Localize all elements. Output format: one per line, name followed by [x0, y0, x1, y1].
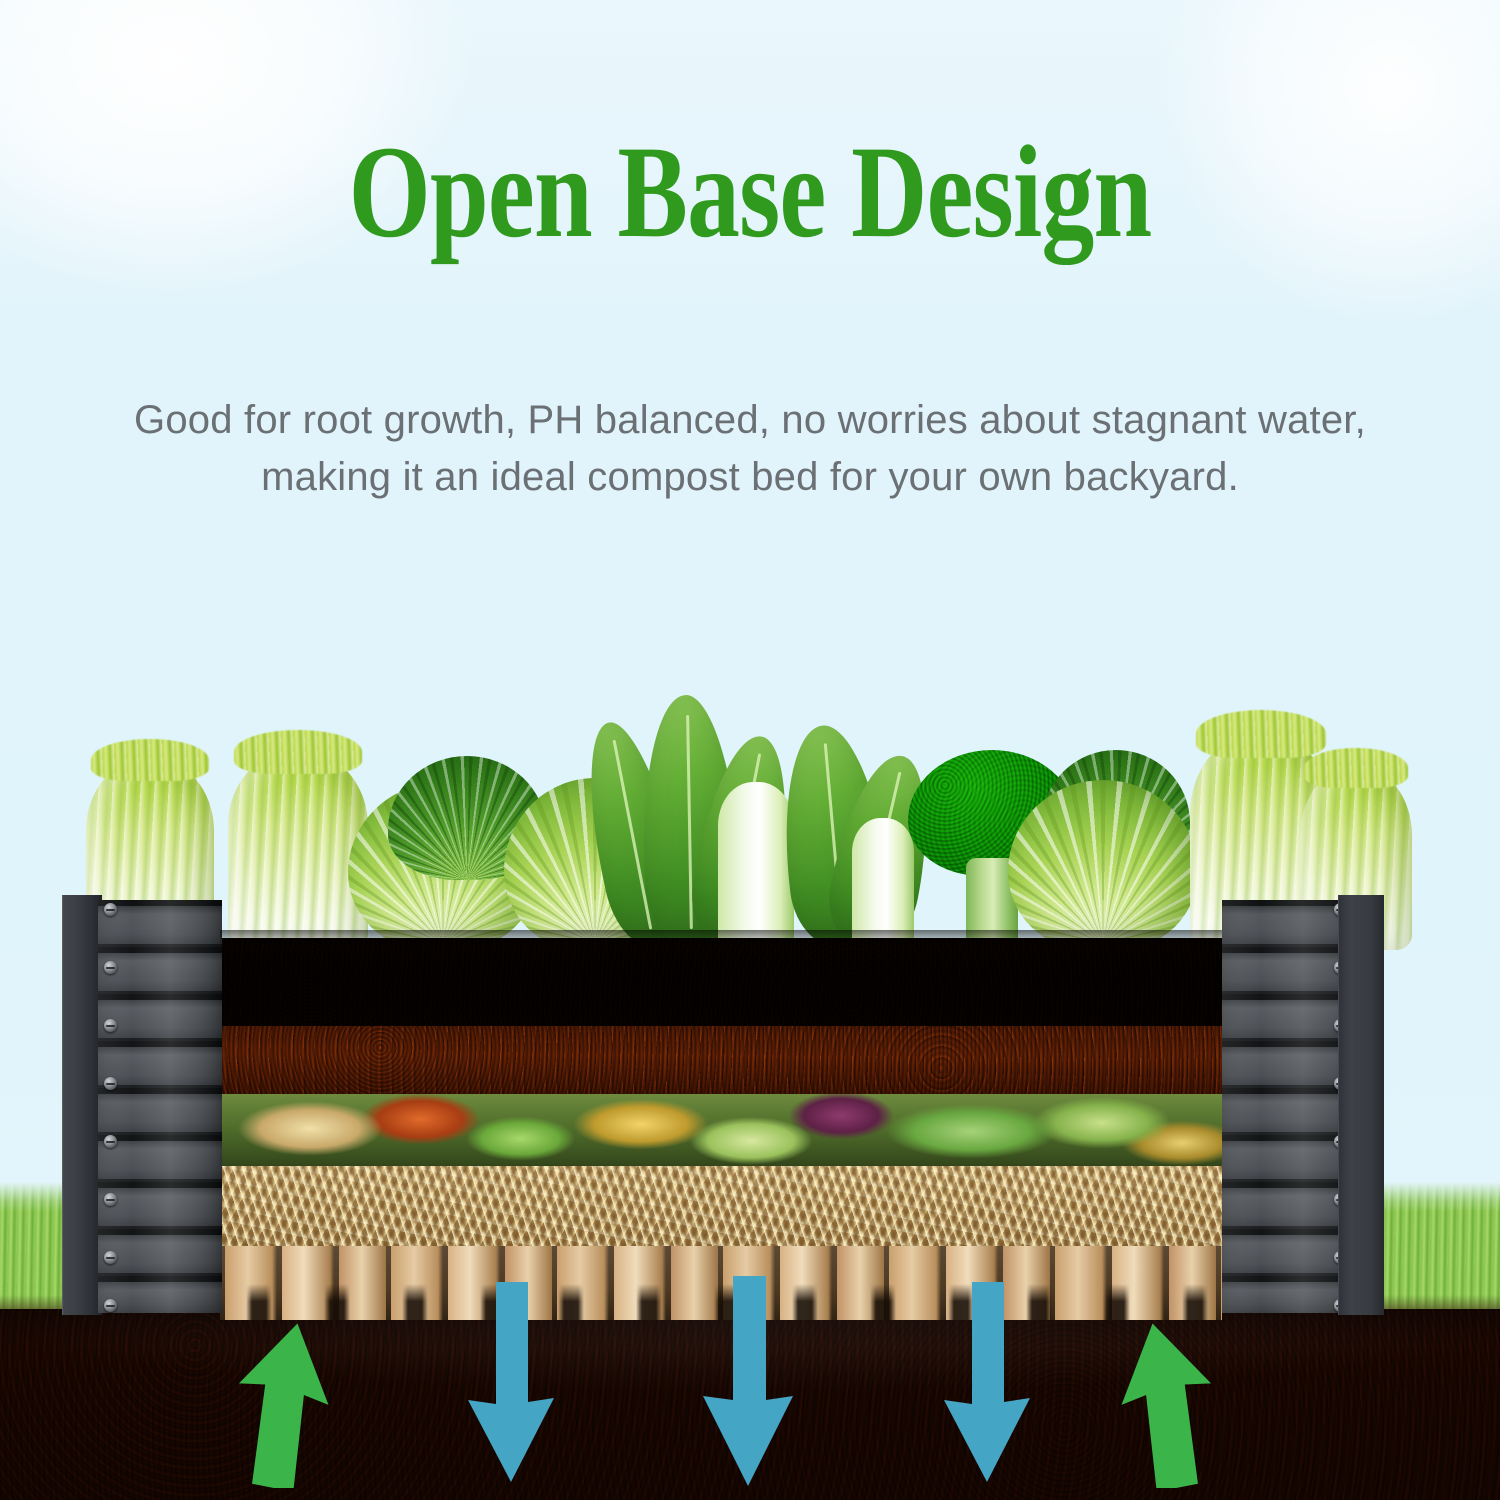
drainage-arrow-down-3: [942, 1282, 1032, 1482]
drainage-arrow-down-1: [466, 1282, 556, 1482]
raised-bed-cross-section: [0, 900, 1500, 1320]
page-subtitle: Good for root growth, PH balanced, no wo…: [50, 392, 1450, 506]
screw-icon: [104, 1251, 117, 1264]
screw-icon: [104, 1019, 117, 1032]
screw-icon: [104, 1077, 117, 1090]
corner-post-left: [62, 895, 102, 1315]
fill-layer-straw: [220, 1166, 1222, 1246]
screw-icon: [104, 1299, 117, 1312]
screw-icon: [104, 903, 117, 916]
corner-post-right: [1338, 895, 1384, 1315]
screw-icon: [104, 1193, 117, 1206]
fill-layer-compost-topsoil: [220, 938, 1222, 1026]
screw-icon: [104, 961, 117, 974]
airflow-arrow-up-right: [1118, 1318, 1218, 1488]
screw-icon: [104, 1135, 117, 1148]
airflow-arrow-up-left: [232, 1318, 332, 1488]
screw-column-left: [104, 900, 126, 1313]
vegetable-canopy: [0, 600, 1500, 950]
left-corrugated-metal-wall: [98, 900, 222, 1313]
promo-image: Open Base Design Good for root growth, P…: [0, 0, 1500, 1500]
subtitle-line-1: Good for root growth, PH balanced, no wo…: [50, 392, 1450, 449]
drainage-arrow-down-2: [700, 1276, 796, 1486]
subtitle-line-2: making it an ideal compost bed for your …: [50, 449, 1450, 506]
fill-layer-bark-soil-mix: [220, 1026, 1222, 1094]
fill-layer-kitchen-scraps: [220, 1094, 1222, 1166]
page-title: Open Base Design: [150, 126, 1350, 258]
canopy-soil-shadow: [220, 930, 1222, 946]
